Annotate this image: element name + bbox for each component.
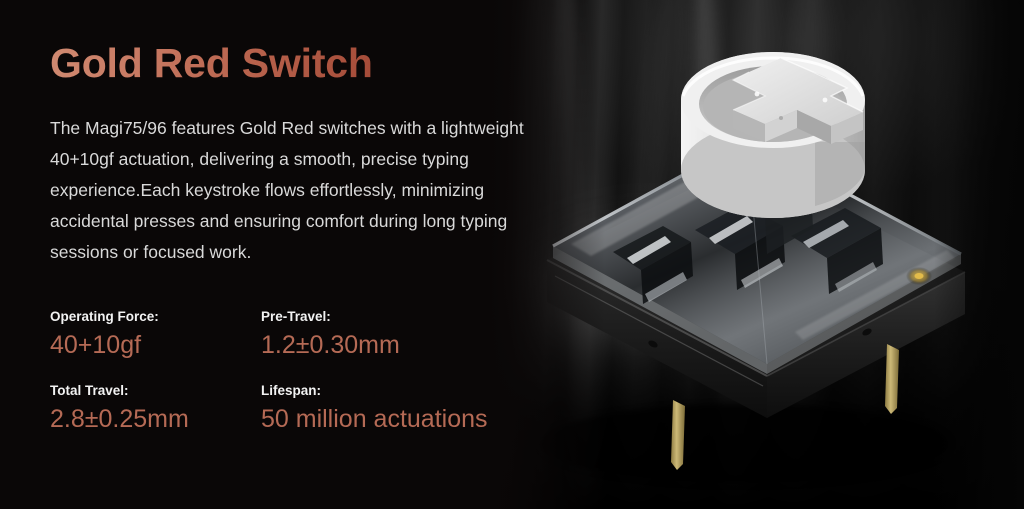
panel-right-fade	[934, 0, 1024, 509]
switch-stem	[681, 52, 865, 218]
spec-item-pre-travel: Pre-Travel: 1.2±0.30mm	[261, 308, 530, 361]
page-title: Gold Red Switch	[50, 41, 373, 86]
spec-value: 1.2±0.30mm	[261, 329, 530, 361]
spec-row: Total Travel: 2.8±0.25mm Lifespan: 50 mi…	[50, 382, 530, 435]
spec-label: Pre-Travel:	[261, 308, 530, 326]
spec-value: 50 million actuations	[261, 403, 530, 435]
description-text: The Magi75/96 features Gold Red switches…	[50, 113, 528, 268]
spec-value: 2.8±0.25mm	[50, 403, 261, 435]
spec-label: Lifespan:	[261, 382, 530, 400]
product-feature-banner: Gold Red Switch The Magi75/96 features G…	[0, 0, 1024, 509]
spec-value: 40+10gf	[50, 329, 261, 361]
spec-item-total-travel: Total Travel: 2.8±0.25mm	[50, 382, 261, 435]
spec-item-lifespan: Lifespan: 50 million actuations	[261, 382, 530, 435]
product-image-panel	[485, 0, 1024, 509]
specifications-list: Operating Force: 40+10gf Pre-Travel: 1.2…	[50, 308, 530, 456]
spec-row: Operating Force: 40+10gf Pre-Travel: 1.2…	[50, 308, 530, 361]
spec-label: Operating Force:	[50, 308, 261, 326]
spec-item-operating-force: Operating Force: 40+10gf	[50, 308, 261, 361]
text-content: Gold Red Switch The Magi75/96 features G…	[50, 0, 530, 509]
spec-label: Total Travel:	[50, 382, 261, 400]
switch-led	[906, 267, 932, 285]
